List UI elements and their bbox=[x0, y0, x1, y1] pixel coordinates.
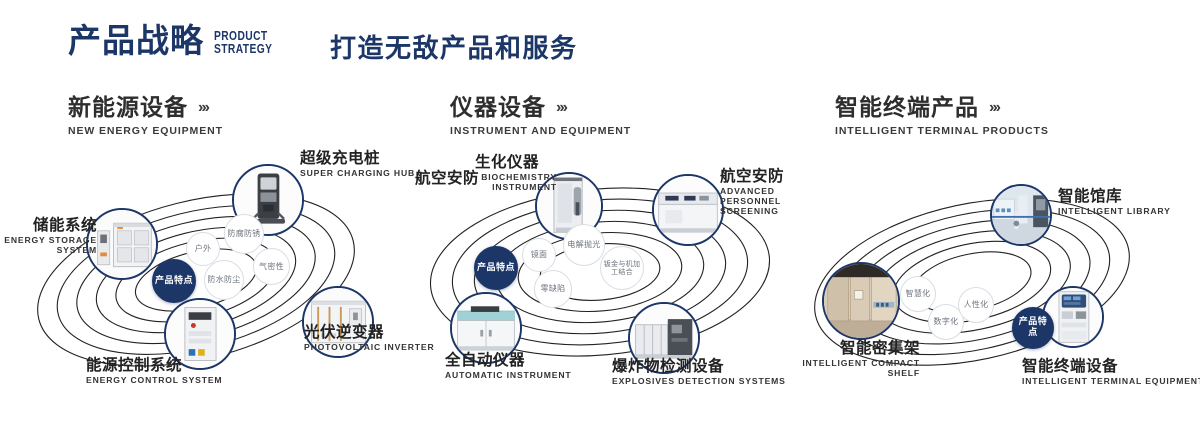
page-title-en-line2: STRATEGY bbox=[214, 43, 272, 56]
core-badge: 产品特点 bbox=[474, 246, 518, 290]
section-title-new-energy: 新能源设备 ››› NEW ENERGY EQUIPMENT bbox=[68, 96, 223, 137]
section-title-instrument: 仪器设备 ››› INSTRUMENT AND EQUIPMENT bbox=[450, 96, 631, 137]
label-en: INTELLIGENT TERMINAL EQUIPMENT bbox=[1022, 377, 1200, 387]
page-title-en-line1: PRODUCT bbox=[214, 30, 272, 43]
node-intelligent-library[interactable] bbox=[990, 184, 1052, 246]
label-advanced-personnel-screening: 航空安防 ADVANCED PERSONNEL SCREENING bbox=[720, 168, 804, 216]
label-cn: 能源控制系统 bbox=[86, 357, 222, 374]
diagram-instrument: 镜面 电解抛光 零缺陷 钣金与机加工结合 产品特点 航空安防 生化仪器 BIOC… bbox=[400, 152, 800, 402]
label-cn: 智能密集架 bbox=[780, 340, 920, 357]
diagram-intelligent-terminal: 智慧化 数字化 人性化 产品特点 智能馆库 INTELLIGENT LIBRAR… bbox=[800, 152, 1200, 402]
feature-bubble: 智慧化 bbox=[900, 276, 936, 312]
page-title: 产品战略 bbox=[68, 24, 204, 57]
section-title-en: INTELLIGENT TERMINAL PRODUCTS bbox=[835, 125, 1049, 137]
energy-storage-cabinet-icon bbox=[88, 210, 156, 278]
section-title-en: NEW ENERGY EQUIPMENT bbox=[68, 125, 223, 137]
section-title-cn: 新能源设备 bbox=[68, 96, 188, 120]
chevron-right-icon: ››› bbox=[556, 99, 566, 117]
feature-bubble: 电解抛光 bbox=[563, 224, 605, 266]
label-biochemistry-instrument: 生化仪器 BIOCHEMISTRY INSTRUMENT bbox=[475, 154, 557, 193]
label-intelligent-compact-shelf: 智能密集架 INTELLIGENT COMPACT SHELF bbox=[780, 340, 920, 379]
label-en: INTELLIGENT LIBRARY bbox=[1058, 207, 1171, 217]
label-en: AUTOMATIC INSTRUMENT bbox=[445, 371, 571, 381]
section-title-cn: 智能终端产品 bbox=[835, 96, 979, 120]
screening-machine-icon bbox=[654, 176, 722, 244]
section-title-cn: 仪器设备 bbox=[450, 96, 546, 120]
page-subtitle: 打造无敌产品和服务 bbox=[330, 36, 578, 62]
label-energy-control-system: 能源控制系统 ENERGY CONTROL SYSTEM bbox=[86, 357, 222, 386]
section-title-intelligent-terminal: 智能终端产品 ››› INTELLIGENT TERMINAL PRODUCTS bbox=[835, 96, 1049, 137]
label-energy-storage-system: 储能系统 ENERGY STORAGE SYSTEM bbox=[0, 217, 97, 256]
label-en: INTELLIGENT COMPACT SHELF bbox=[780, 359, 920, 378]
label-intelligent-terminal-equipment: 智能终端设备 INTELLIGENT TERMINAL EQUIPMENT bbox=[1022, 358, 1200, 387]
library-room-icon bbox=[992, 186, 1050, 244]
label-cn: 智能馆库 bbox=[1058, 188, 1171, 205]
label-cn: 全自动仪器 bbox=[445, 352, 571, 369]
page-header: 产品战略 PRODUCT STRATEGY bbox=[68, 24, 285, 57]
label-en: ENERGY CONTROL SYSTEM bbox=[86, 376, 222, 386]
self-service-kiosk-icon bbox=[1044, 288, 1102, 346]
label-automatic-instrument: 全自动仪器 AUTOMATIC INSTRUMENT bbox=[445, 352, 571, 381]
feature-bubble: 镜面 bbox=[522, 238, 556, 272]
label-cn: 航空安防 bbox=[720, 168, 804, 185]
chevron-right-icon: ››› bbox=[989, 99, 999, 117]
label-cn: 智能终端设备 bbox=[1022, 358, 1200, 375]
label-en: SUPER CHARGING HUB bbox=[300, 169, 415, 179]
node-intelligent-compact-shelf[interactable] bbox=[822, 262, 900, 340]
section-title-en: INSTRUMENT AND EQUIPMENT bbox=[450, 125, 631, 137]
chevron-right-icon: ››› bbox=[198, 99, 208, 117]
diagram-new-energy: 户外 防腐防锈 防水防尘 气密性 产品特点 储能系统 ENERGY STORAG… bbox=[0, 152, 400, 402]
feature-bubble: 钣金与机加工结合 bbox=[600, 246, 644, 290]
label-cn: 爆炸物检测设备 bbox=[612, 358, 786, 375]
core-badge: 产品特点 bbox=[1012, 307, 1054, 349]
feature-bubble: 气密性 bbox=[253, 248, 290, 285]
compact-shelf-icon bbox=[824, 264, 898, 338]
label-intelligent-library: 智能馆库 INTELLIGENT LIBRARY bbox=[1058, 188, 1171, 217]
feature-bubble: 防水防尘 bbox=[204, 260, 244, 300]
label-super-charging-hub: 超级充电桩 SUPER CHARGING HUB bbox=[300, 150, 415, 179]
label-cn: 生化仪器 bbox=[475, 154, 557, 171]
core-badge: 产品特点 bbox=[152, 259, 196, 303]
label-en: EXPLOSIVES DETECTION SYSTEMS bbox=[612, 377, 786, 387]
feature-bubble: 零缺陷 bbox=[534, 270, 572, 308]
page-title-en: PRODUCT STRATEGY bbox=[214, 30, 272, 55]
feature-bubble: 防腐防锈 bbox=[224, 214, 264, 254]
label-cn: 航空安防 bbox=[415, 170, 479, 187]
label-en: ENERGY STORAGE SYSTEM bbox=[0, 236, 97, 255]
feature-bubble: 人性化 bbox=[958, 287, 994, 323]
label-aviation-security: 航空安防 bbox=[415, 170, 479, 187]
label-en: BIOCHEMISTRY INSTRUMENT bbox=[475, 173, 557, 192]
product-strategy-infographic: 产品战略 PRODUCT STRATEGY 打造无敌产品和服务 新能源设备 ››… bbox=[0, 0, 1200, 422]
label-explosives-detection-systems: 爆炸物检测设备 EXPLOSIVES DETECTION SYSTEMS bbox=[612, 358, 786, 387]
label-cn: 储能系统 bbox=[0, 217, 97, 234]
label-en: ADVANCED PERSONNEL SCREENING bbox=[720, 187, 804, 216]
node-advanced-personnel-screening[interactable] bbox=[652, 174, 724, 246]
label-cn: 超级充电桩 bbox=[300, 150, 415, 167]
